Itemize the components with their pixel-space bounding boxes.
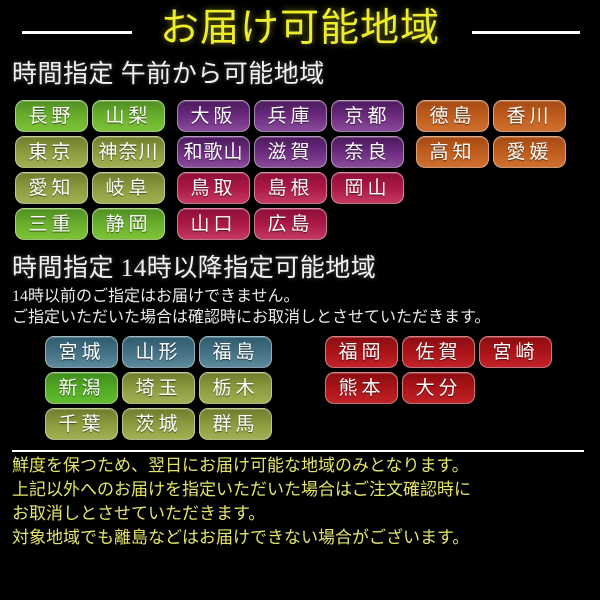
prefecture-badge: 熊本 (325, 372, 398, 404)
badge-group: 三重静岡 (15, 208, 169, 240)
prefecture-badge: 宮城 (45, 336, 118, 368)
prefecture-badge: 東京 (15, 136, 88, 168)
footer-line-2: 上記以外へのお届けを指定いただいた場合はご注文確認時に (0, 478, 600, 502)
prefecture-badge: 千葉 (45, 408, 118, 440)
prefecture-badge: 茨城 (122, 408, 195, 440)
prefecture-badge: 埼玉 (122, 372, 195, 404)
afternoon-notice-1: 14時以前のご指定はお届けできません。 (0, 286, 600, 307)
prefecture-badge: 山口 (177, 208, 250, 240)
prefecture-badge: 福岡 (325, 336, 398, 368)
badge-row: 新潟埼玉栃木熊本大分 (0, 372, 600, 408)
prefecture-badge: 島根 (254, 172, 327, 204)
prefecture-badge: 兵庫 (254, 100, 327, 132)
page-title: お届け可能地域 (0, 2, 600, 56)
badge-row: 愛知岐阜鳥取島根岡山 (0, 172, 600, 208)
morning-badge-grid: 長野山梨大阪兵庫京都徳島香川東京神奈川和歌山滋賀奈良高知愛媛愛知岐阜鳥取島根岡山… (0, 100, 600, 244)
badge-group: 高知愛媛 (416, 136, 570, 168)
badge-group: 愛知岐阜 (15, 172, 169, 204)
badge-group: 山口広島 (177, 208, 331, 240)
prefecture-badge: 新潟 (45, 372, 118, 404)
prefecture-badge: 和歌山 (177, 136, 250, 168)
header-rule-right (472, 31, 580, 34)
section-afternoon: 時間指定 14時以降指定可能地域 14時以前のご指定はお届けできません。 ご指定… (0, 252, 600, 444)
footer-line-3: お取消しとさせていただきます。 (0, 502, 600, 526)
badge-group-left: 宮城山形福島 (45, 336, 276, 368)
badge-group: 鳥取島根岡山 (177, 172, 408, 204)
prefecture-badge: 京都 (331, 100, 404, 132)
prefecture-badge: 徳島 (416, 100, 489, 132)
prefecture-badge: 福島 (199, 336, 272, 368)
prefecture-badge: 長野 (15, 100, 88, 132)
badge-row: 長野山梨大阪兵庫京都徳島香川 (0, 100, 600, 136)
footer-line-1: 鮮度を保つため、翌日にお届け可能な地域のみとなります。 (0, 454, 600, 478)
prefecture-badge: 広島 (254, 208, 327, 240)
badge-group-left: 千葉茨城群馬 (45, 408, 276, 440)
section-afternoon-heading: 時間指定 14時以降指定可能地域 (0, 252, 600, 286)
badge-row: 宮城山形福島福岡佐賀宮崎 (0, 336, 600, 372)
badge-row: 三重静岡山口広島 (0, 208, 600, 244)
prefecture-badge: 三重 (15, 208, 88, 240)
prefecture-badge: 山梨 (92, 100, 165, 132)
footer-line-4: 対象地域でも離島などはお届けできない場合がございます。 (0, 526, 600, 550)
footer-notes: 鮮度を保つため、翌日にお届け可能な地域のみとなります。 上記以外へのお届けを指定… (0, 450, 600, 550)
badge-group: 長野山梨 (15, 100, 169, 132)
page-header: お届け可能地域 (0, 0, 600, 58)
prefecture-badge: 宮崎 (479, 336, 552, 368)
prefecture-badge: 愛媛 (493, 136, 566, 168)
badge-group: 徳島香川 (416, 100, 570, 132)
prefecture-badge: 岐阜 (92, 172, 165, 204)
prefecture-badge: 大阪 (177, 100, 250, 132)
prefecture-badge: 高知 (416, 136, 489, 168)
prefecture-badge: 岡山 (331, 172, 404, 204)
prefecture-badge: 神奈川 (92, 136, 165, 168)
prefecture-badge: 大分 (402, 372, 475, 404)
badge-group-left: 新潟埼玉栃木 (45, 372, 276, 404)
badge-row: 東京神奈川和歌山滋賀奈良高知愛媛 (0, 136, 600, 172)
section-morning: 時間指定 午前から可能地域 長野山梨大阪兵庫京都徳島香川東京神奈川和歌山滋賀奈良… (0, 58, 600, 244)
badge-group-right: 熊本大分 (325, 372, 479, 404)
afternoon-badge-grid: 宮城山形福島福岡佐賀宮崎新潟埼玉栃木熊本大分千葉茨城群馬 (0, 336, 600, 444)
badge-group: 和歌山滋賀奈良 (177, 136, 408, 168)
badge-group-right: 福岡佐賀宮崎 (325, 336, 556, 368)
prefecture-badge: 鳥取 (177, 172, 250, 204)
prefecture-badge: 山形 (122, 336, 195, 368)
prefecture-badge: 愛知 (15, 172, 88, 204)
badge-group: 大阪兵庫京都 (177, 100, 408, 132)
prefecture-badge: 奈良 (331, 136, 404, 168)
badge-row: 千葉茨城群馬 (0, 408, 600, 444)
prefecture-badge: 群馬 (199, 408, 272, 440)
afternoon-notice-2: ご指定いただいた場合は確認時にお取消しとさせていただきます。 (0, 307, 600, 328)
section-morning-heading: 時間指定 午前から可能地域 (0, 58, 600, 92)
prefecture-badge: 滋賀 (254, 136, 327, 168)
prefecture-badge: 香川 (493, 100, 566, 132)
badge-group: 東京神奈川 (15, 136, 169, 168)
prefecture-badge: 静岡 (92, 208, 165, 240)
prefecture-badge: 栃木 (199, 372, 272, 404)
prefecture-badge: 佐賀 (402, 336, 475, 368)
